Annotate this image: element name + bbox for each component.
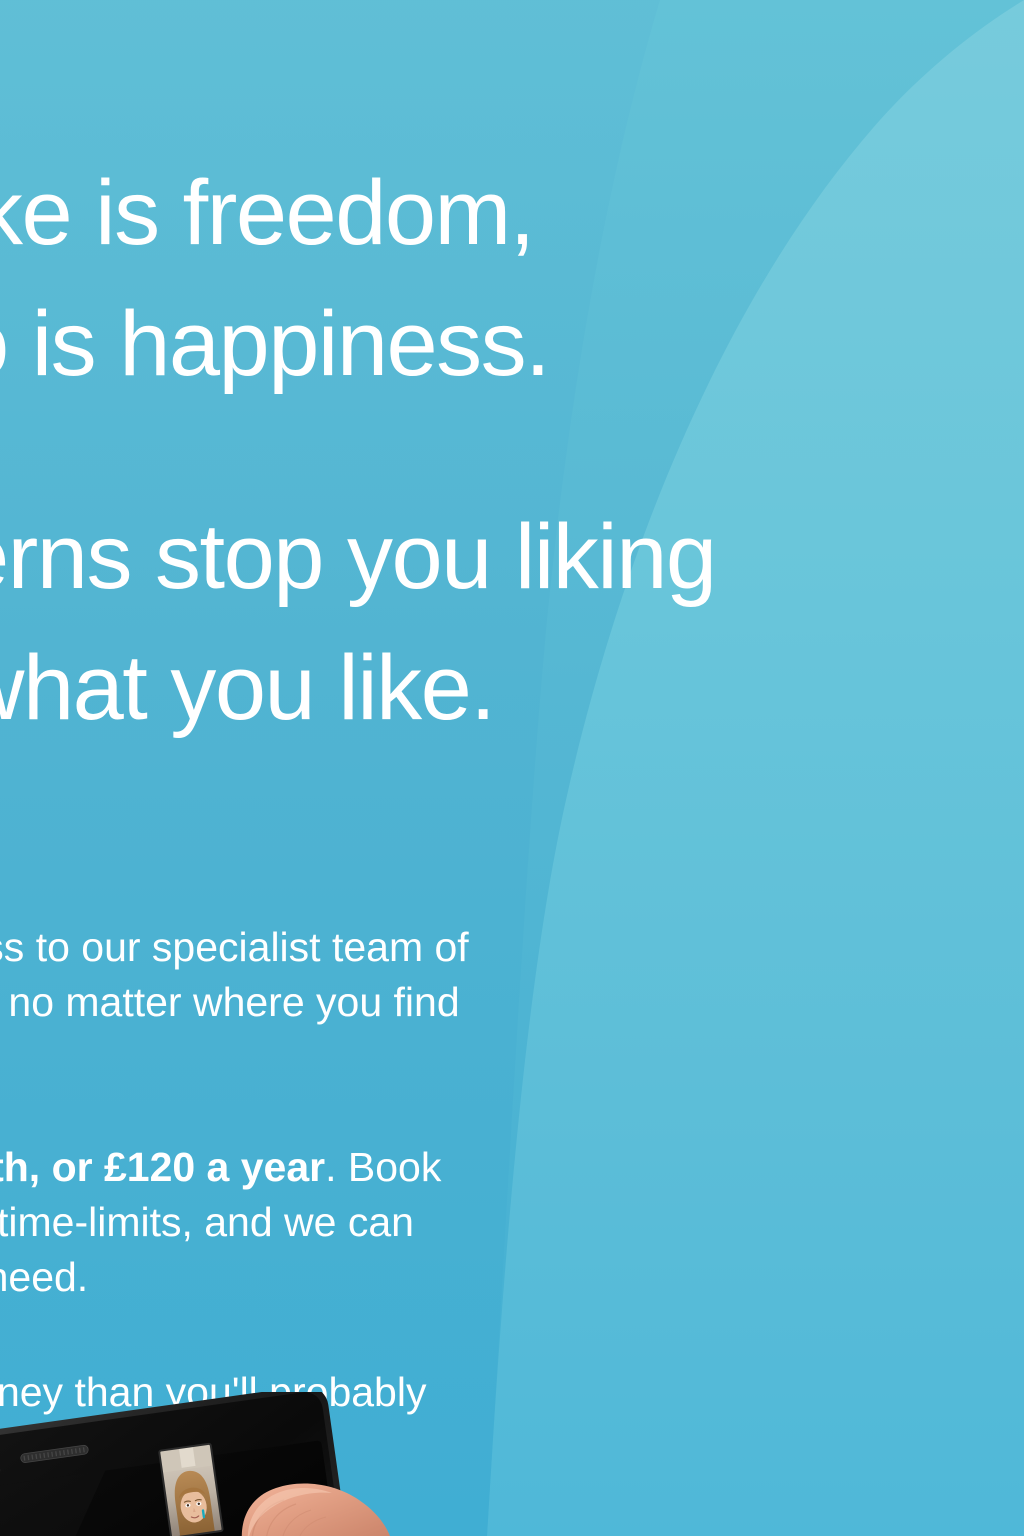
headline-primary: ike is freedom, o is happiness.: [0, 148, 958, 410]
body-line: cess to our specialist team of: [0, 920, 950, 975]
promo-page: ike is freedom, o is happiness. erns sto…: [0, 0, 1024, 1536]
body-line-pricing: onth, or £120 a year. Book: [0, 1140, 950, 1195]
body-line: nd, no matter where you find: [0, 975, 950, 1030]
headline-line: erns stop you liking: [0, 492, 958, 623]
body-line: no time-limits, and we can: [0, 1195, 950, 1250]
body-paragraph-one: cess to our specialist team of nd, no ma…: [0, 920, 950, 1030]
body-paragraph-three: money than you'll probably: [0, 1365, 950, 1420]
body-line-pricing-rest: . Book: [325, 1144, 441, 1190]
video-call-self-view: [159, 1444, 223, 1536]
body-line: ht need.: [0, 1250, 950, 1305]
headline-line: ike is freedom,: [0, 148, 958, 279]
body-line: money than you'll probably: [0, 1365, 950, 1420]
price-highlight: onth, or £120 a year: [0, 1144, 325, 1190]
page-content: ike is freedom, o is happiness. erns sto…: [0, 0, 1024, 1536]
headline-line: o is happiness.: [0, 279, 958, 410]
front-camera-icon: [0, 1462, 1, 1479]
headline-line: what you like.: [0, 623, 958, 754]
headline-secondary: erns stop you liking what you like.: [0, 492, 958, 754]
finger-holding-phone: [242, 1483, 392, 1536]
body-paragraph-two: onth, or £120 a year. Book no time-limit…: [0, 1140, 950, 1305]
